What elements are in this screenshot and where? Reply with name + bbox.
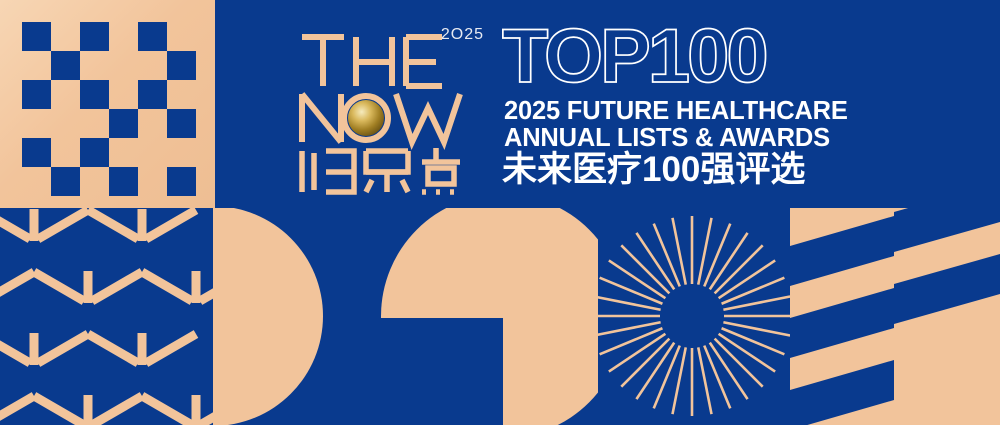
circles-svg [208,208,598,425]
headline-block: TOP100 2025 FUTURE HEALTHCARE ANNUAL LIS… [502,22,847,197]
subtitle-en-line1: 2025 FUTURE HEALTHCARE [504,98,848,125]
checker-cell-4-0 [22,138,51,167]
checker-cell-0-2 [80,22,109,51]
checker-cell-4-3 [109,138,138,167]
checker-cell-0-1 [51,22,80,51]
checker-cell-3-3 [109,109,138,138]
top100-svg: TOP100 [502,22,842,94]
starburst-panel [590,208,795,425]
logo-chinese-strokes [302,148,460,192]
checker-cell-3-1 [51,109,80,138]
circles-panel [208,208,598,425]
checkerboard-grid [22,22,196,196]
the-now-logo-svg [296,20,486,195]
checker-cell-5-0 [22,167,51,196]
checker-cell-1-1 [51,51,80,80]
checker-cell-4-5 [167,138,196,167]
stripes-svg [790,208,1000,425]
checker-cell-0-5 [167,22,196,51]
checker-cell-1-5 [167,51,196,80]
isometric-lattice-panel [0,208,215,425]
checker-cell-2-4 [138,80,167,109]
checker-cell-0-0 [22,22,51,51]
checker-cell-0-4 [138,22,167,51]
checker-cell-2-1 [51,80,80,109]
starburst-rays [592,216,792,416]
checker-cell-4-1 [51,138,80,167]
gold-orb-icon [348,100,384,136]
checker-cell-1-4 [138,51,167,80]
checker-cell-2-5 [167,80,196,109]
checker-cell-1-3 [109,51,138,80]
stripes-right [894,208,1000,425]
checkerboard-panel [0,0,215,208]
checker-cell-2-2 [80,80,109,109]
checker-cell-5-2 [80,167,109,196]
stripes-left [790,208,894,425]
logo-year: 2O25 [441,26,484,44]
logo-the-letters [302,37,442,86]
half-circle-left [208,208,323,425]
lattice-lines [0,208,215,425]
checker-cell-2-3 [109,80,138,109]
top100-title: TOP100 [502,22,842,94]
subtitle-en-line2: ANNUAL LISTS & AWARDS [504,125,830,152]
checker-cell-5-5 [167,167,196,196]
checker-cell-4-2 [80,138,109,167]
quarter-cut-circle [381,208,598,425]
top100-outline-text: TOP100 [502,22,766,94]
subtitle-cn: 未来医疗100强评选 [502,150,805,190]
checker-cell-1-0 [22,51,51,80]
checker-cell-5-3 [109,167,138,196]
the-now-logo: 2O25 [296,20,486,195]
checker-cell-3-2 [80,109,109,138]
diagonal-stripes-panel [790,208,1000,425]
checker-cell-5-1 [51,167,80,196]
lattice-svg [0,208,215,425]
checker-cell-3-0 [22,109,51,138]
checker-cell-4-4 [138,138,167,167]
checker-cell-0-3 [109,22,138,51]
checker-cell-2-0 [22,80,51,109]
checker-cell-3-5 [167,109,196,138]
starburst-svg [590,208,795,425]
checker-cell-3-4 [138,109,167,138]
award-banner: 2O25 TOP100 2025 FUTURE HEALTHCARE ANNUA… [0,0,1000,425]
checker-cell-5-4 [138,167,167,196]
checker-cell-1-2 [80,51,109,80]
